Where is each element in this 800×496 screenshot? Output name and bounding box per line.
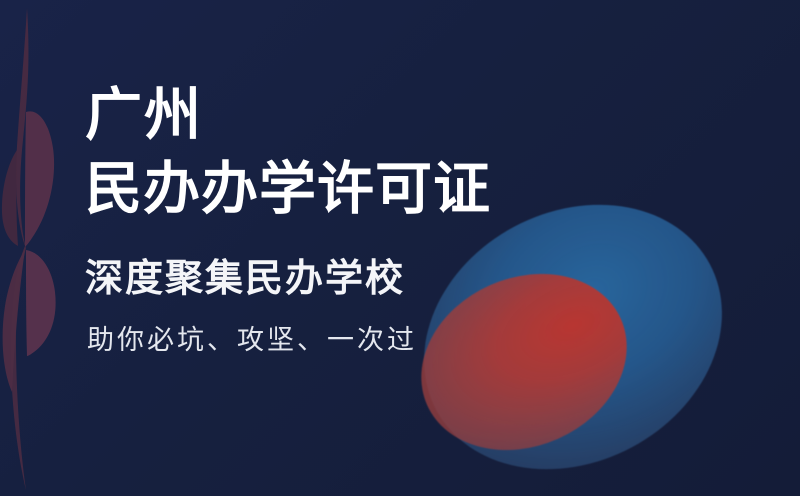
banner-title-line-2: 民办办学许可证 (85, 160, 491, 217)
ribbon-lobe-left (2, 150, 18, 246)
wave-ribbon-decoration (0, 0, 80, 496)
ribbon-lobe-middle (3, 249, 25, 392)
banner-tagline: 助你必坑、攻坚、一次过 (87, 327, 417, 354)
promo-banner: 广州 民办办学许可证 深度聚集民办学校 助你必坑、攻坚、一次过 (0, 0, 800, 496)
ribbon-lobe-upper (25, 111, 54, 247)
ribbon-lobe-lower (26, 250, 56, 356)
banner-text-block: 广州 民办办学许可证 深度聚集民办学校 助你必坑、攻坚、一次过 (85, 0, 685, 496)
ribbon-spine (11, 8, 29, 490)
banner-subtitle: 深度聚集民办学校 (85, 259, 405, 297)
banner-title-line-1: 广州 (85, 86, 203, 143)
